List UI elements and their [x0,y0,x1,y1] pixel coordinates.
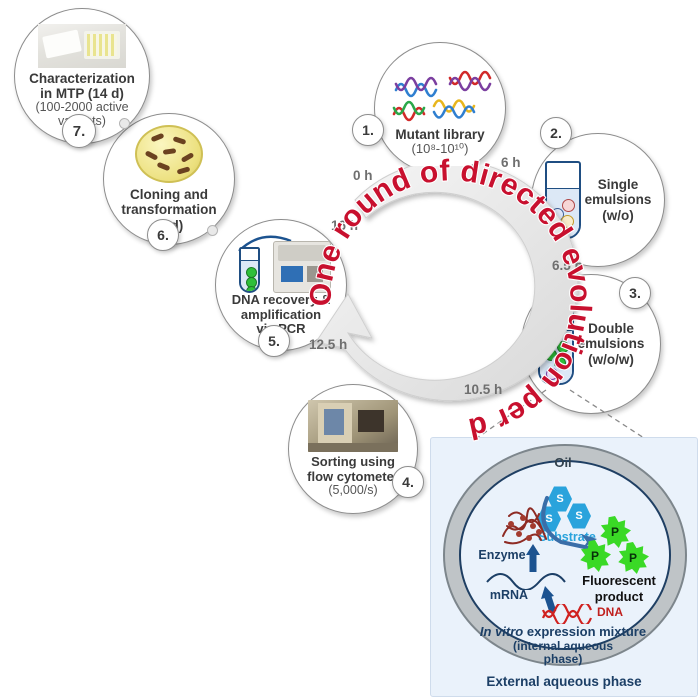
headline-curved-text: One round of directed evolution per day [300,150,600,450]
step-7-line-1: Characterization [29,71,135,86]
dna-label: DNA [597,606,641,619]
step-7-badge[interactable]: 7. [62,114,96,148]
external-aqueous-phase-label: External aqueous phase [441,674,687,689]
in-vitro-italic: In vitro [480,624,523,639]
internal-phase-line-2: phase) [457,653,669,666]
step-6-badge[interactable]: 6. [147,219,179,251]
step-4-line-2: flow cytometer [307,470,399,485]
droplet-anatomy-inset: Oil S S S Substrate P P [430,437,698,697]
step-6-line-2: transformation [121,202,216,217]
dna-strands-icon [388,64,492,126]
connector-dot-6-5 [207,225,218,236]
step-4-subtitle: (5,000/s) [328,484,377,498]
step-7-subtitle-1: (100-2000 active [35,101,128,115]
connector-dot-7-6 [119,118,130,129]
step-2-badge[interactable]: 2. [540,117,572,149]
expression-mixture-caption: In vitro expression mixture [457,624,669,639]
enzyme-label: Enzyme [471,548,533,562]
mrna-label: mRNA [481,588,537,602]
step-5-badge[interactable]: 5. [258,325,290,357]
directed-evolution-cycle-diagram: One round of directed evolution per day … [0,0,700,699]
oil-label: Oil [523,456,603,471]
dna-helix-icon [539,604,597,624]
step-6-line-1: Cloning and [130,187,208,202]
step-4-line-1: Sorting using [311,455,395,470]
mrna-wave-icon [485,568,581,590]
step-1-title: Mutant library [395,127,484,142]
step-7-line-2: in MTP (14 d) [40,86,124,101]
headline-text: One round of directed evolution per day [300,150,597,445]
step-3-badge[interactable]: 3. [619,277,651,309]
microtiter-plate-photo [38,24,126,68]
fluorescent-product-line-2: product [571,590,667,605]
step-1-badge[interactable]: 1. [352,114,384,146]
fluorescent-product-line-1: Fluorescent [571,574,667,589]
agar-plate-icon [135,125,203,183]
expression-mixture-rest: expression mixture [523,624,646,639]
step-4-badge[interactable]: 4. [392,466,424,498]
